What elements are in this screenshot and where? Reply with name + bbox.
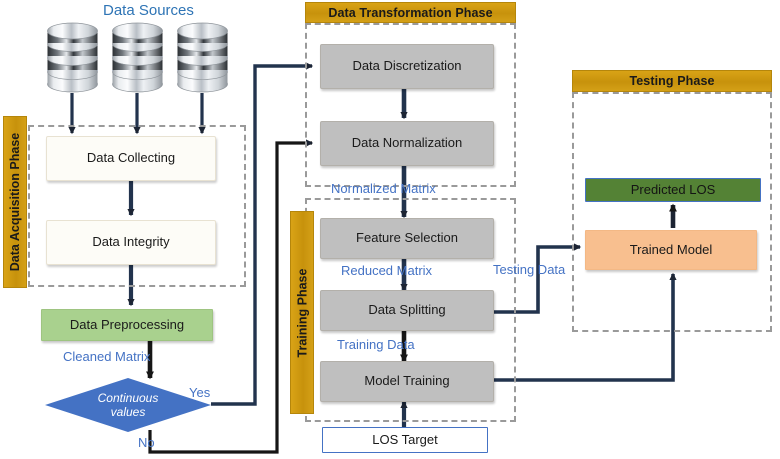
predicted-los-box[interactable]: Predicted LOS [585, 178, 761, 202]
acquisition-phase-label: Data Acquisition Phase [8, 133, 22, 271]
model-training-label: Model Training [364, 374, 449, 389]
data-collecting-box[interactable]: Data Collecting [46, 136, 216, 181]
reduced-matrix-label: Reduced Matrix [341, 263, 432, 278]
data-preprocessing-box[interactable]: Data Preprocessing [41, 309, 213, 341]
data-integrity-label: Data Integrity [92, 235, 169, 250]
los-target-label: LOS Target [372, 433, 438, 448]
database-cylinder-icon-3 [174, 22, 231, 94]
data-integrity-box[interactable]: Data Integrity [46, 220, 216, 265]
model-training-box[interactable]: Model Training [320, 361, 494, 402]
training-phase-label-bar: Training Phase [290, 211, 314, 414]
feature-selection-label: Feature Selection [356, 231, 458, 246]
testing-data-label: Testing Data [493, 262, 565, 277]
transformation-phase-label-bar: Data Transformation Phase [305, 2, 516, 23]
data-collecting-label: Data Collecting [87, 151, 175, 166]
database-cylinder-icon-2 [109, 22, 166, 94]
data-sources-title: Data Sources [103, 2, 194, 19]
data-normalization-label: Data Normalization [352, 136, 463, 151]
acquisition-phase-label-bar: Data Acquisition Phase [3, 116, 27, 288]
training-phase-label: Training Phase [295, 268, 309, 357]
testing-phase-container [572, 92, 772, 332]
database-cylinder-icon-1 [44, 22, 101, 94]
data-preprocessing-label: Data Preprocessing [70, 318, 184, 333]
continuous-values-decision[interactable]: Continuous values [45, 378, 211, 432]
los-target-box[interactable]: LOS Target [322, 427, 488, 453]
data-splitting-label: Data Splitting [368, 303, 445, 318]
training-data-label: Training Data [337, 337, 415, 352]
feature-selection-box[interactable]: Feature Selection [320, 218, 494, 259]
flowchart-canvas: Data Sources [0, 0, 780, 459]
yes-branch-label: Yes [189, 385, 210, 400]
no-branch-label: No [138, 435, 155, 450]
cleaned-matrix-label: Cleaned Matrix [63, 349, 150, 364]
transformation-phase-label: Data Transformation Phase [328, 6, 492, 20]
trained-model-label: Trained Model [630, 243, 713, 258]
data-normalization-box[interactable]: Data Normalization [320, 121, 494, 166]
data-discretization-box[interactable]: Data Discretization [320, 44, 494, 89]
data-splitting-box[interactable]: Data Splitting [320, 290, 494, 331]
testing-phase-label-bar: Testing Phase [572, 70, 772, 92]
data-discretization-label: Data Discretization [352, 59, 461, 74]
testing-phase-label: Testing Phase [629, 74, 714, 88]
predicted-los-label: Predicted LOS [631, 183, 716, 198]
trained-model-box[interactable]: Trained Model [585, 230, 757, 270]
normalized-matrix-label: Normalized Matrix [331, 181, 436, 196]
